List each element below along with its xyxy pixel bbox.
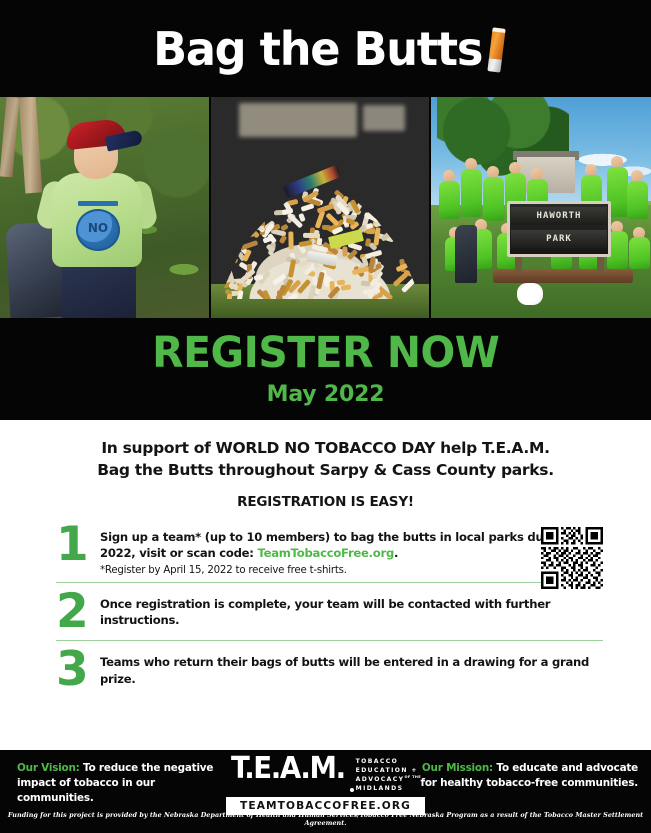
- step-text: Once registration is complete, your team…: [100, 596, 603, 629]
- vision-label: Our Vision:: [17, 762, 80, 774]
- support-statement: In support of WORLD NO TOBACCO DAY help …: [0, 420, 651, 481]
- step-text: Teams who return their bags of butts wil…: [100, 654, 603, 687]
- funding-disclaimer: Funding for this project is provided by …: [0, 811, 651, 827]
- step-item-3: 3 Teams who return their bags of butts w…: [56, 648, 603, 692]
- boy-in-team-shirt-photo: NO: [0, 97, 209, 318]
- qr-code[interactable]: [541, 527, 603, 589]
- qr-code-image: [541, 527, 603, 589]
- support-line-2: Bag the Butts throughout Sarpy & Cass Co…: [0, 459, 651, 481]
- page-title: Bag the Butts: [153, 26, 482, 72]
- bullet-icon: [350, 788, 354, 792]
- registration-easy-heading: REGISTRATION IS EASY!: [0, 494, 651, 510]
- step-note: *Register by April 15, 2022 to receive f…: [100, 565, 603, 576]
- register-band: REGISTER NOW May 2022: [0, 318, 651, 420]
- step-item-1: 1 Sign up a team* (up to 10 members) to …: [56, 523, 603, 576]
- photo-strip: NO: [0, 97, 651, 318]
- support-line-1: In support of WORLD NO TOBACCO DAY help …: [0, 437, 651, 459]
- tagline-of-the: OF THE: [404, 775, 420, 779]
- step-text-after-link: .: [394, 546, 398, 560]
- step-number: 3: [56, 648, 96, 692]
- team-wordmark: T.E.A.M.: [231, 754, 345, 784]
- poster: Bag the Butts NO: [0, 0, 651, 833]
- step-item-2: 2 Once registration is complete, your te…: [56, 590, 603, 634]
- step-number: 2: [56, 590, 96, 634]
- poster-header: Bag the Butts: [0, 0, 651, 97]
- park-sign-line-2: PARK: [511, 230, 607, 248]
- step-text: Sign up a team* (up to 10 members) to ba…: [100, 529, 603, 562]
- team-group-at-park-photo: HAWORTH PARK: [431, 97, 651, 318]
- cigarette-icon: [487, 27, 505, 72]
- steps-list: 1 Sign up a team* (up to 10 members) to …: [0, 523, 651, 692]
- team-logo-tagline: TOBACCO EDUCATION + ADVOCACYOF THE MIDLA…: [356, 758, 421, 794]
- mission-label: Our Mission:: [422, 762, 493, 774]
- poster-footer: Our Vision: To reduce the negative impac…: [0, 750, 651, 833]
- tagline-line-4: MIDLANDS: [356, 785, 404, 792]
- team-logo: T.E.A.M. TOBACCO EDUCATION + ADVOCACYOF …: [226, 754, 426, 815]
- mission-statement: Our Mission: To educate and advocate for…: [420, 761, 638, 791]
- shirt-no-text: NO: [86, 221, 110, 236]
- step-divider: [56, 640, 603, 641]
- register-date: May 2022: [267, 384, 385, 406]
- park-sign-line-1: HAWORTH: [511, 207, 607, 225]
- tagline-line-3: ADVOCACY: [356, 776, 405, 783]
- pile-of-cigarette-butts-photo: [211, 97, 429, 318]
- team-tobacco-free-link[interactable]: TeamTobaccoFree.org: [257, 546, 394, 560]
- step-divider: [56, 582, 603, 583]
- main-content: In support of WORLD NO TOBACCO DAY help …: [0, 420, 651, 750]
- register-headline: REGISTER NOW: [152, 332, 499, 375]
- tagline-line-2: EDUCATION +: [356, 767, 421, 776]
- vision-statement: Our Vision: To reduce the negative impac…: [17, 761, 232, 806]
- tagline-line-1: TOBACCO: [356, 758, 421, 767]
- step-number: 1: [56, 523, 96, 567]
